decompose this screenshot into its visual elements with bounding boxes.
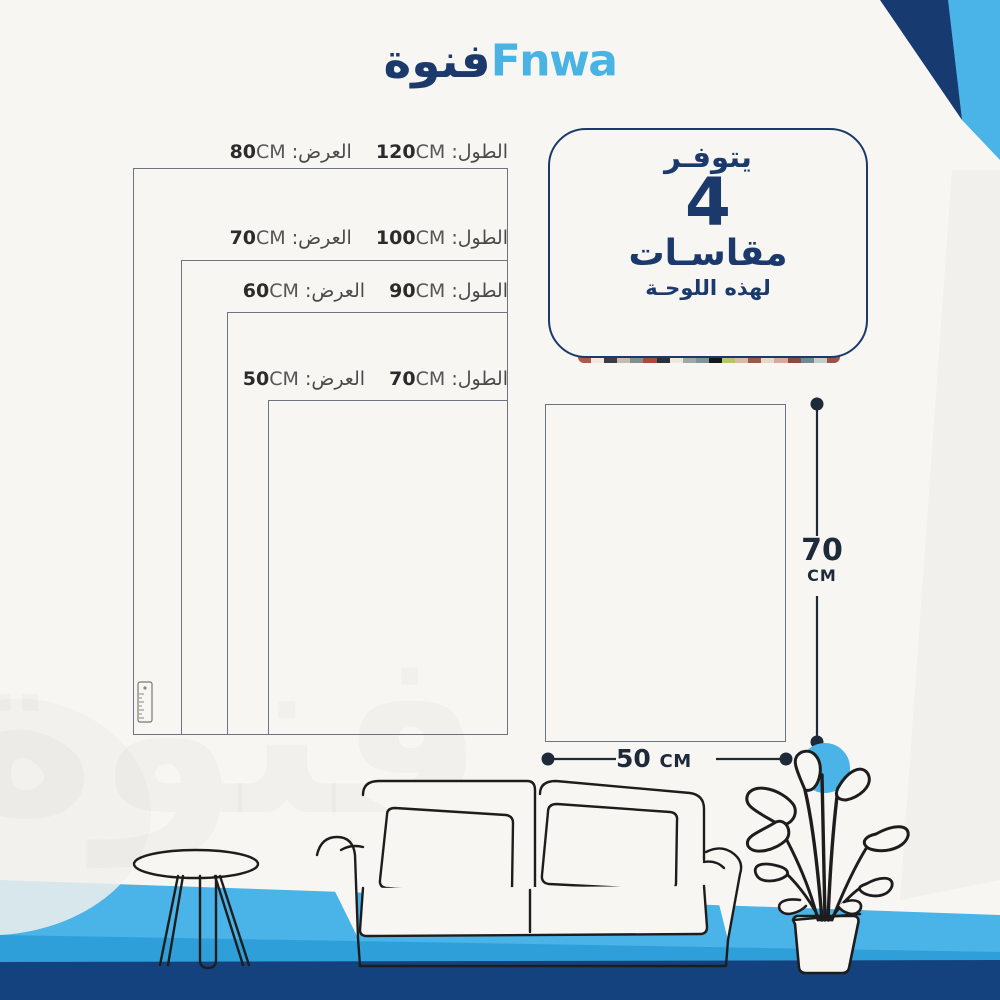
poster-canvas: فنوة فنوةFnwa الطول: 120CM العرض: 80CM ا… xyxy=(0,0,1000,1000)
card-size-count: 4 xyxy=(685,172,731,235)
available-sizes-card: يتوفـر 4 مقاسـات لهذه اللوحـة xyxy=(548,128,868,358)
potted-plant xyxy=(747,751,908,973)
sofa xyxy=(317,781,741,966)
card-for-this-artwork-label: لهذه اللوحـة xyxy=(645,276,770,300)
card-sizes-label: مقاسـات xyxy=(628,233,787,274)
side-table xyxy=(134,850,258,968)
